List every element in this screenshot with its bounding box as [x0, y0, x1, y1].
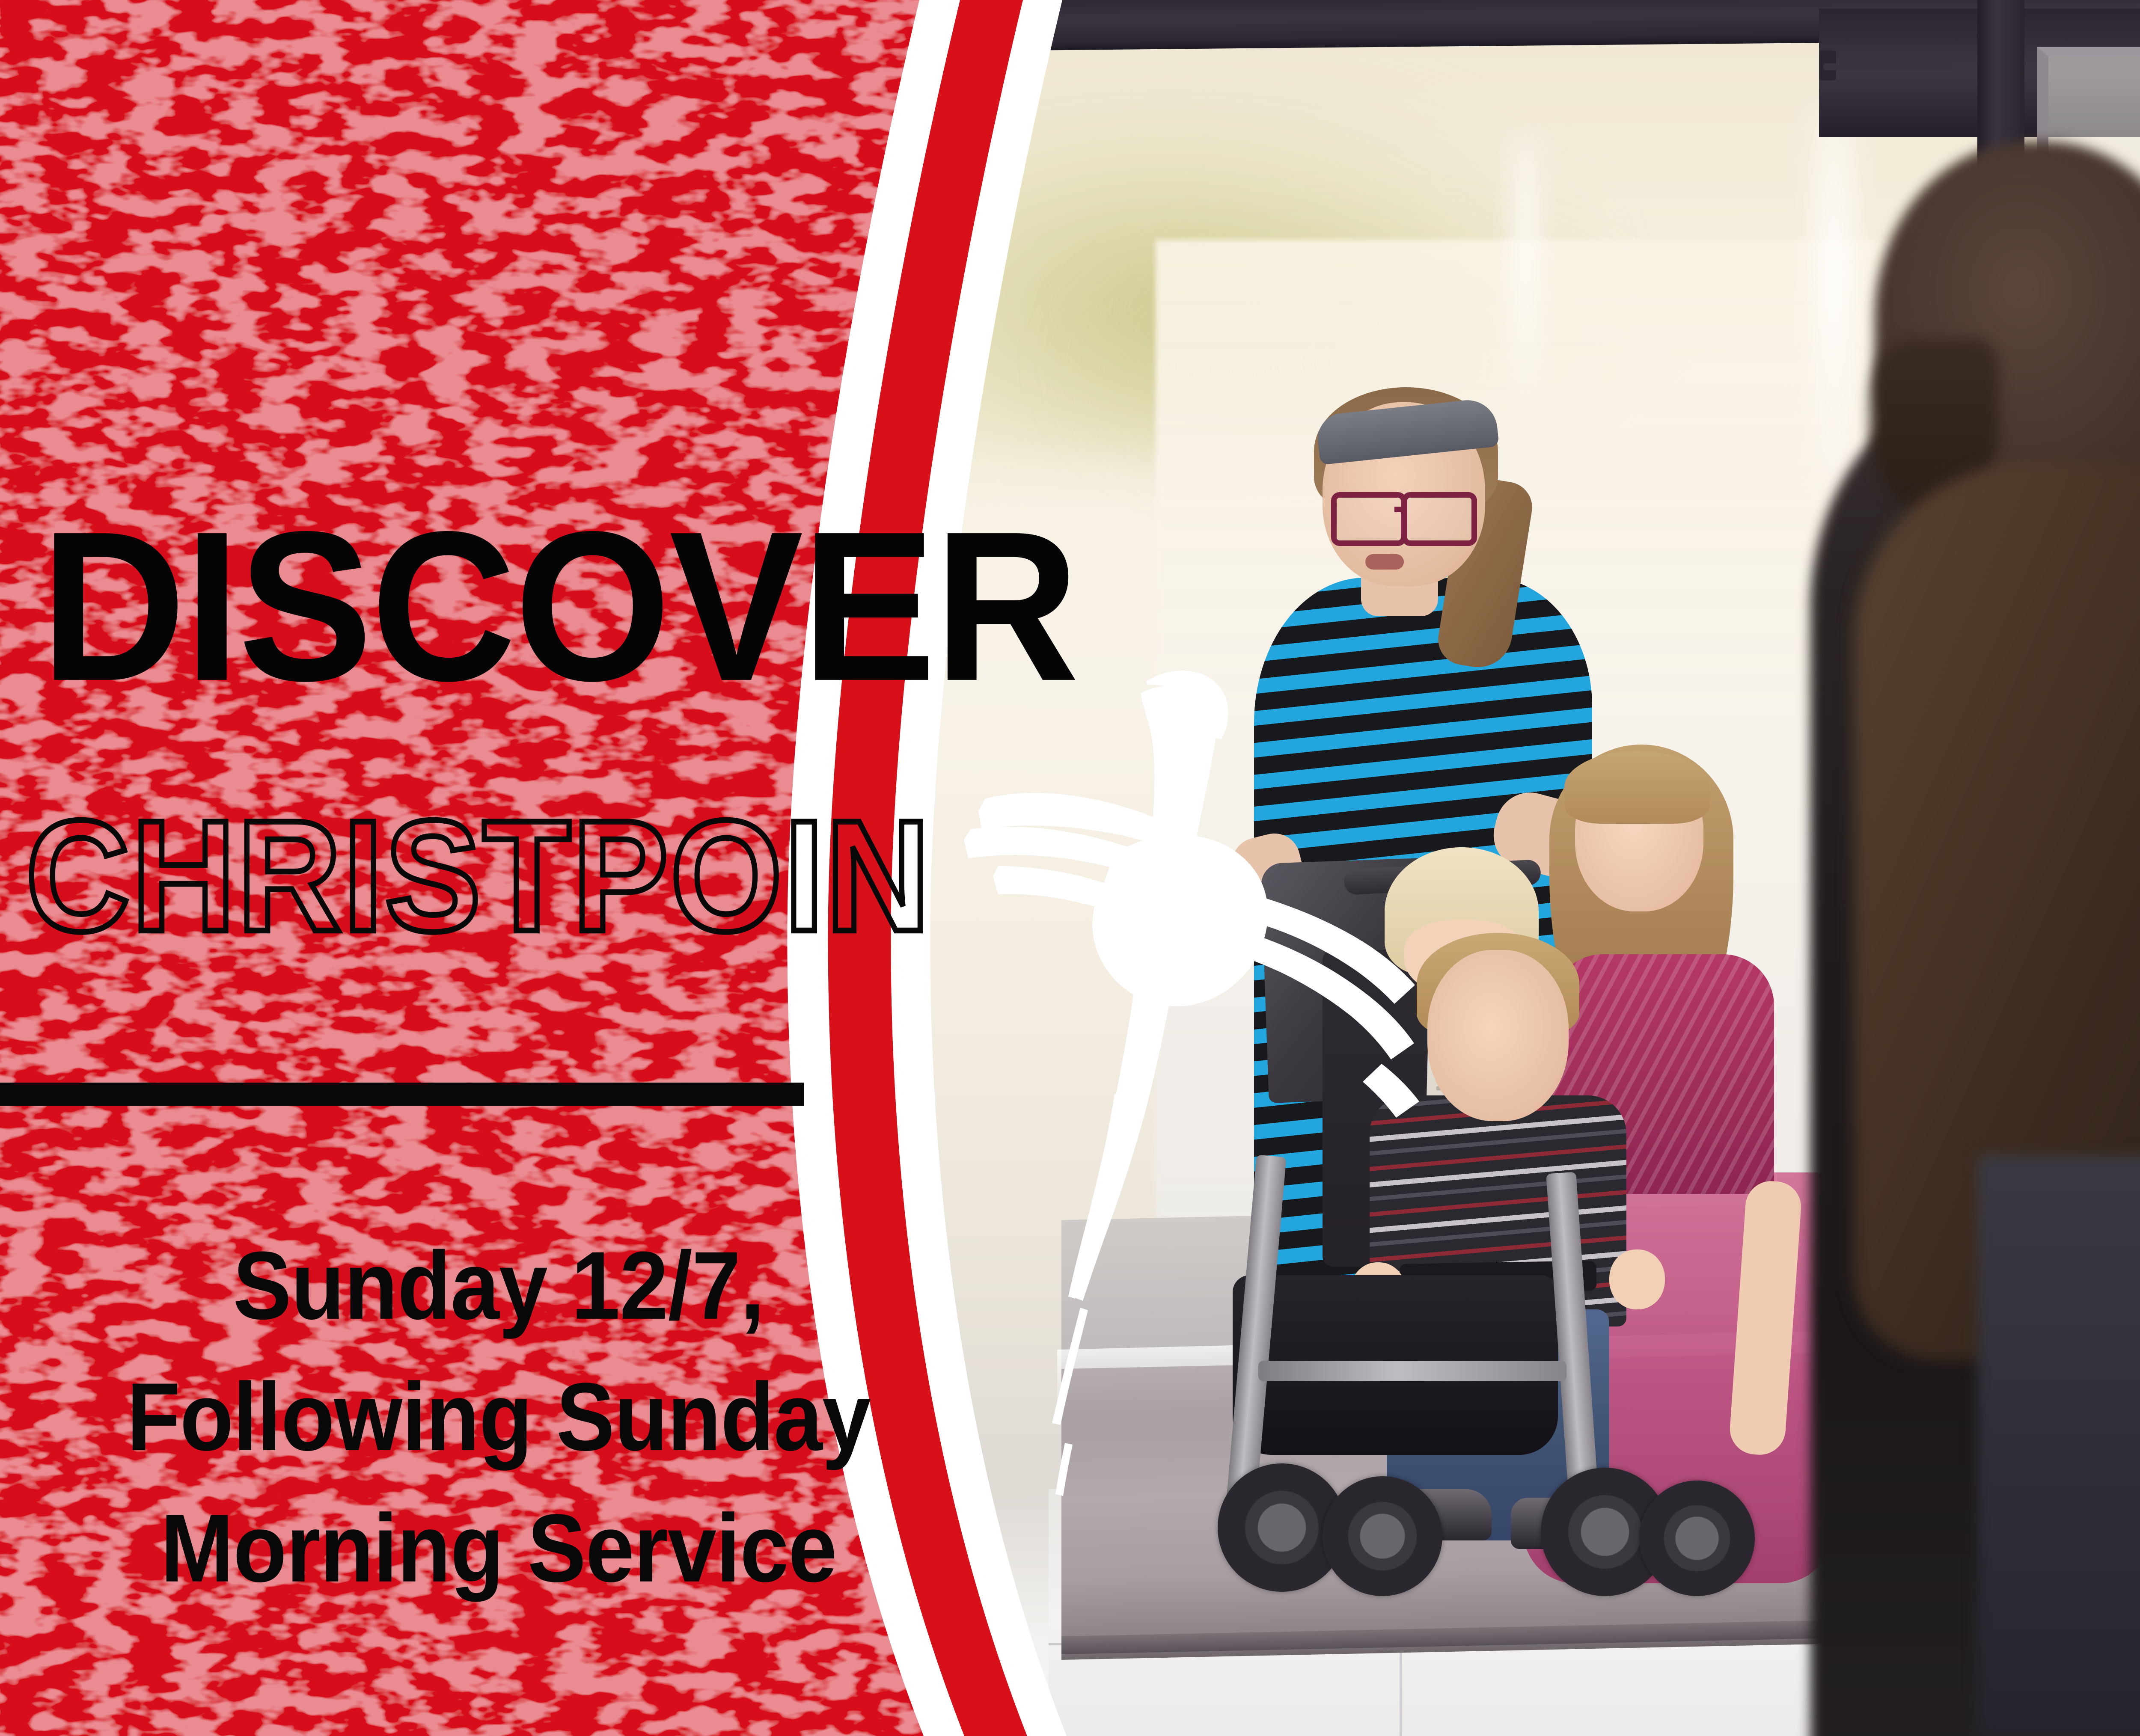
- event-detail-line-2: Following Sunday: [0, 1352, 997, 1483]
- divider-rule: [0, 1083, 804, 1106]
- event-detail-line-3: Morning Service: [0, 1483, 997, 1614]
- page-title: DISCOVER: [41, 500, 1078, 713]
- event-detail-line-1: Sunday 12/7,: [0, 1220, 997, 1352]
- event-details: Sunday 12/7, Following Sunday Morning Se…: [0, 1220, 997, 1614]
- text-content: DISCOVER CHRISTPOIN Sunday 12/7, Followi…: [0, 0, 2140, 1736]
- brand-name: CHRISTPOIN: [26, 797, 932, 955]
- poster-canvas: DISCOVER CHRISTPOIN Sunday 12/7, Followi…: [0, 0, 2140, 1736]
